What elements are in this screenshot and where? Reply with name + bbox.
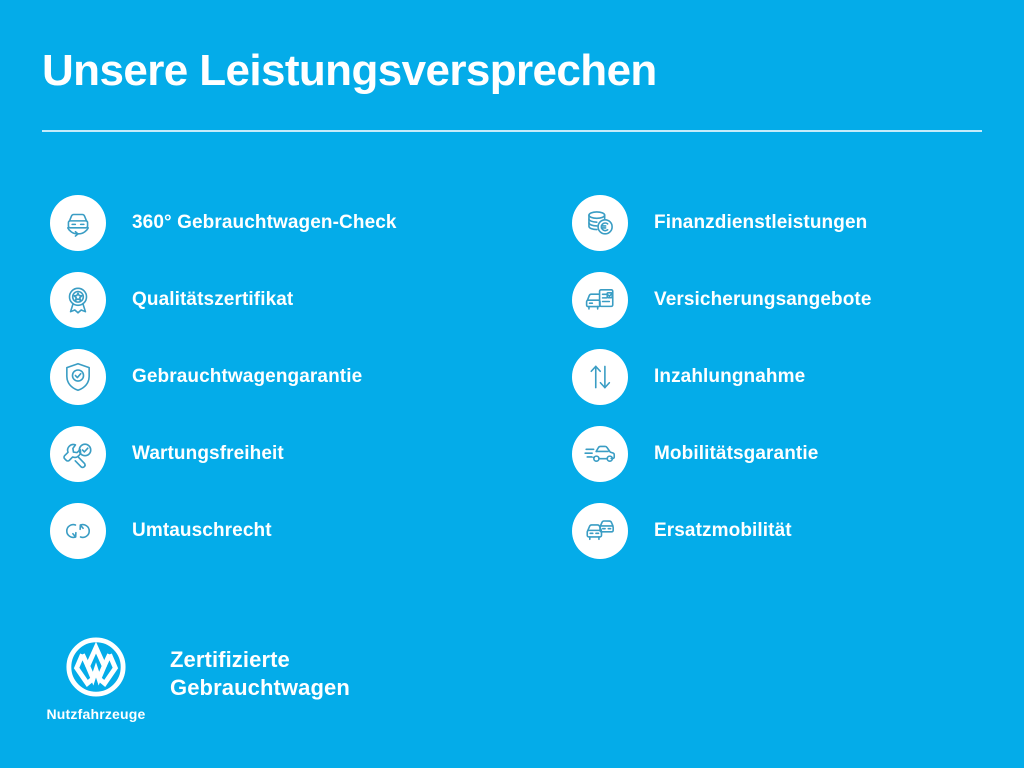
feature-label: Wartungsfreiheit: [132, 443, 284, 465]
feature-label: Inzahlungnahme: [654, 366, 805, 388]
feature-column-left: 360° Gebrauchtwagen-Check Qualitätszerti…: [50, 195, 520, 580]
feature-label: Finanzdienstleistungen: [654, 212, 867, 234]
brand-claim-line-2: Gebrauchtwagen: [170, 674, 350, 702]
title-divider: [42, 130, 982, 132]
exchange-arrows-icon: [50, 503, 106, 559]
feature-label: Mobilitätsgarantie: [654, 443, 818, 465]
feature-item-mobilitaetsgarantie[interactable]: Mobilitätsgarantie: [572, 426, 1012, 482]
feature-item-ersatzmobilitaet[interactable]: Ersatzmobilität: [572, 503, 1012, 559]
header: Unsere Leistungsversprechen: [42, 48, 982, 132]
volkswagen-logo: [65, 636, 127, 698]
feature-item-360-check[interactable]: 360° Gebrauchtwagen-Check: [50, 195, 520, 251]
coins-euro-icon: [572, 195, 628, 251]
slide-root: Unsere Leistungsversprechen 360° Gebrauc…: [0, 0, 1024, 768]
feature-item-wartungsfreiheit[interactable]: Wartungsfreiheit: [50, 426, 520, 482]
feature-item-finanzdienstleistungen[interactable]: Finanzdienstleistungen: [572, 195, 1012, 251]
car-document-check-icon: [572, 272, 628, 328]
feature-item-gebrauchtwagengarantie[interactable]: Gebrauchtwagengarantie: [50, 349, 520, 405]
award-ribbon-icon: [50, 272, 106, 328]
two-cars-icon: [572, 503, 628, 559]
shield-check-icon: [50, 349, 106, 405]
feature-label: Qualitätszertifikat: [132, 289, 293, 311]
feature-label: Umtauschrecht: [132, 520, 272, 542]
feature-column-right: Finanzdienstleistungen Versicheru: [572, 195, 1012, 580]
feature-label: Ersatzmobilität: [654, 520, 792, 542]
feature-item-umtauschrecht[interactable]: Umtauschrecht: [50, 503, 520, 559]
feature-item-inzahlungnahme[interactable]: Inzahlungnahme: [572, 349, 1012, 405]
page-title: Unsere Leistungsversprechen: [42, 48, 982, 94]
car-360-check-icon: [50, 195, 106, 251]
brand-mark: Nutzfahrzeuge: [40, 636, 152, 722]
up-down-arrows-icon: [572, 349, 628, 405]
feature-label: Versicherungsangebote: [654, 289, 872, 311]
brand-claim-line-1: Zertifizierte: [170, 646, 350, 674]
car-motion-icon: [572, 426, 628, 482]
wrench-check-icon: [50, 426, 106, 482]
feature-label: 360° Gebrauchtwagen-Check: [132, 212, 397, 234]
brand-sub-label: Nutzfahrzeuge: [46, 706, 145, 722]
feature-item-versicherungsangebote[interactable]: Versicherungsangebote: [572, 272, 1012, 328]
brand-block: Nutzfahrzeuge Zertifizierte Gebrauchtwag…: [40, 636, 350, 722]
feature-item-qualitaetszertifikat[interactable]: Qualitätszertifikat: [50, 272, 520, 328]
feature-label: Gebrauchtwagengarantie: [132, 366, 362, 388]
brand-claim: Zertifizierte Gebrauchtwagen: [170, 646, 350, 701]
features-section: 360° Gebrauchtwagen-Check Qualitätszerti…: [0, 195, 1024, 580]
